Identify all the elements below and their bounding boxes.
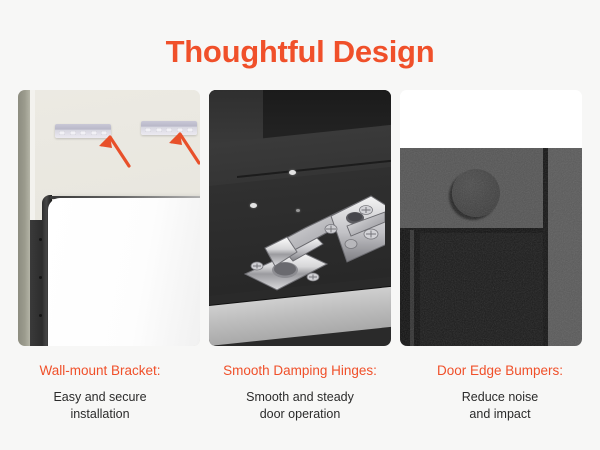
feature-image-smooth-damping-hinges (209, 90, 391, 346)
caption-description: Reduce noise and impact (400, 389, 600, 423)
cabinet-interior-inner (420, 233, 543, 346)
white-background-top (400, 90, 582, 150)
wall-side-edge (18, 90, 30, 346)
cabinet-interior-edge (410, 230, 414, 346)
cabinet-door-front (48, 198, 200, 346)
door-frame-right (548, 148, 582, 346)
feature-image-wall-mount-bracket (18, 90, 200, 346)
pointer-arrow-icon (96, 126, 138, 168)
caption-title: Smooth Damping Hinges: (200, 362, 400, 380)
door-edge-bumper-icon (452, 169, 500, 217)
cabinet-back-wall-left (209, 90, 263, 146)
pointer-arrow-icon (166, 123, 200, 165)
feature-image-door-edge-bumpers (400, 90, 582, 346)
screw-hole (289, 170, 296, 175)
caption-title: Wall-mount Bracket: (0, 362, 200, 380)
page-title: Thoughtful Design (0, 33, 600, 71)
damping-hinge-icon (235, 182, 385, 312)
caption-wall-mount-bracket: Wall-mount Bracket: Easy and secure inst… (0, 362, 200, 423)
promo-banner: Thoughtful Design (0, 0, 600, 450)
caption-description: Smooth and steady door operation (200, 389, 400, 423)
caption-smooth-damping-hinges: Smooth Damping Hinges: Smooth and steady… (200, 362, 400, 423)
feature-image-row (18, 90, 582, 346)
caption-title: Door Edge Bumpers: (400, 362, 600, 380)
caption-description: Easy and secure installation (0, 389, 200, 423)
caption-door-edge-bumpers: Door Edge Bumpers: Reduce noise and impa… (400, 362, 600, 423)
feature-caption-row: Wall-mount Bracket: Easy and secure inst… (0, 362, 600, 423)
